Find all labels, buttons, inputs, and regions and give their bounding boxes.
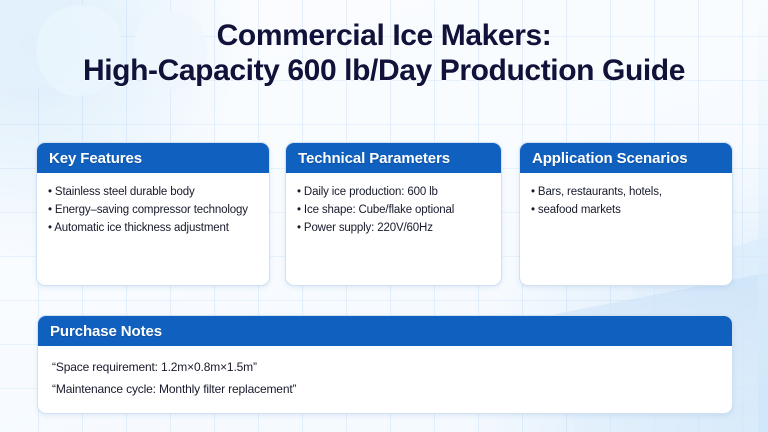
card-key-features: Key Features • Stainless steel durable b… [36, 142, 270, 286]
card-application-scenarios: Application Scenarios • Bars, restaurant… [519, 142, 733, 286]
card-header-key-features: Key Features [37, 143, 269, 173]
card-title-technical-parameters: Technical Parameters [298, 150, 450, 167]
card-body-application-scenarios: • Bars, restaurants, hotels, • seafood m… [520, 173, 732, 229]
list-item: • seafood markets [531, 201, 721, 219]
card-body-key-features: • Stainless steel durable body • Energy–… [37, 173, 269, 247]
page-title-line-2: High-Capacity 600 lb/Day Production Guid… [0, 53, 768, 88]
card-purchase-notes: Purchase Notes “Space requirement: 1.2m×… [37, 315, 733, 414]
list-item: • Bars, restaurants, hotels, [531, 183, 721, 201]
list-item: • Stainless steel durable body [48, 183, 258, 201]
slide-canvas: Commercial Ice Makers: High-Capacity 600… [0, 0, 768, 432]
list-item: • Power supply: 220V/60Hz [297, 219, 490, 237]
list-item: • Ice shape: Cube/flake optional [297, 201, 490, 219]
card-body-technical-parameters: • Daily ice production: 600 lb • Ice sha… [286, 173, 501, 247]
list-item: • Automatic ice thickness adjustment [48, 219, 258, 237]
note-line: “Maintenance cycle: Monthly filter repla… [52, 378, 718, 400]
list-item: • Daily ice production: 600 lb [297, 183, 490, 201]
card-title-application-scenarios: Application Scenarios [532, 150, 687, 167]
card-technical-parameters: Technical Parameters • Daily ice product… [285, 142, 502, 286]
page-title: Commercial Ice Makers: High-Capacity 600… [0, 18, 768, 88]
list-item: • Energy–saving compressor technology [48, 201, 258, 219]
card-body-purchase-notes: “Space requirement: 1.2m×0.8m×1.5m” “Mai… [38, 346, 732, 410]
card-header-purchase-notes: Purchase Notes [38, 316, 732, 346]
card-header-technical-parameters: Technical Parameters [286, 143, 501, 173]
card-header-application-scenarios: Application Scenarios [520, 143, 732, 173]
card-title-key-features: Key Features [49, 150, 142, 167]
note-line: “Space requirement: 1.2m×0.8m×1.5m” [52, 356, 718, 378]
page-title-line-1: Commercial Ice Makers: [0, 18, 768, 53]
card-title-purchase-notes: Purchase Notes [50, 323, 162, 340]
